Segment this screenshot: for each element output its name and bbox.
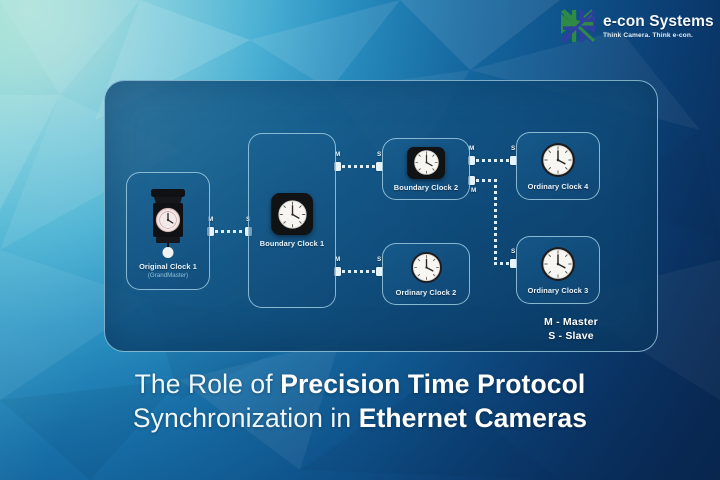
round-clock-icon [540, 142, 576, 178]
econ-weave-logo-icon [558, 6, 598, 46]
node-original-clock-1[interactable]: Original Clock 1 (GrandMaster) [126, 172, 210, 290]
legend-slave: S - Slave [516, 329, 626, 343]
round-clock-icon [410, 251, 443, 284]
square-clock-icon [407, 147, 445, 179]
round-clock-icon [540, 246, 576, 282]
link-line [476, 159, 510, 162]
node-boundary-clock-1[interactable]: Boundary Clock 1 [248, 133, 336, 308]
mantel-clock-icon [145, 184, 191, 258]
brand-tagline: Think Camera. Think e-con. [603, 33, 714, 40]
page-title-line1-light: The Role of [135, 369, 281, 399]
node-label: Original Clock 1 [139, 262, 197, 271]
link-line [342, 270, 376, 273]
link-line [342, 165, 376, 168]
square-clock-icon [271, 193, 313, 235]
link-line-h1 [476, 179, 496, 182]
port-label-slave: S [377, 256, 381, 263]
node-label: Ordinary Clock 2 [396, 288, 457, 297]
diagram-legend: M - Master S - Slave [516, 315, 626, 343]
page-title-line2-light: Synchronization in [133, 403, 359, 433]
page-title: The Role of Precision Time Protocol Sync… [0, 368, 720, 436]
page-title-line1-bold: Precision Time Protocol [280, 369, 585, 399]
node-label: Boundary Clock 2 [394, 183, 458, 192]
legend-master: M - Master [516, 315, 626, 329]
port-label-slave: S [511, 248, 515, 255]
page-title-line-2: Synchronization in Ethernet Cameras [0, 402, 720, 436]
node-label: Ordinary Clock 3 [528, 286, 589, 295]
brand-logo-text: e-con Systems Think Camera. Think e-con. [603, 12, 714, 39]
node-boundary-clock-2[interactable]: Boundary Clock 2 [382, 138, 470, 200]
port-label-master: M [471, 187, 476, 194]
brand-name: e-con Systems [603, 14, 714, 30]
port-label-slave: S [511, 145, 515, 152]
link-line-v [494, 179, 497, 265]
node-sublabel: (GrandMaster) [148, 272, 188, 279]
page-title-line-1: The Role of Precision Time Protocol [0, 368, 720, 402]
brand-logo: e-con Systems Think Camera. Think e-con. [558, 4, 718, 48]
port-label-slave: S [377, 151, 381, 158]
node-label: Ordinary Clock 4 [528, 182, 589, 191]
link-line [215, 230, 245, 233]
node-label: Boundary Clock 1 [260, 239, 324, 248]
node-ordinary-clock-2[interactable]: Ordinary Clock 2 [382, 243, 470, 305]
node-ordinary-clock-4[interactable]: Ordinary Clock 4 [516, 132, 600, 200]
node-ordinary-clock-3[interactable]: Ordinary Clock 3 [516, 236, 600, 304]
page-title-line2-bold: Ethernet Cameras [359, 403, 587, 433]
